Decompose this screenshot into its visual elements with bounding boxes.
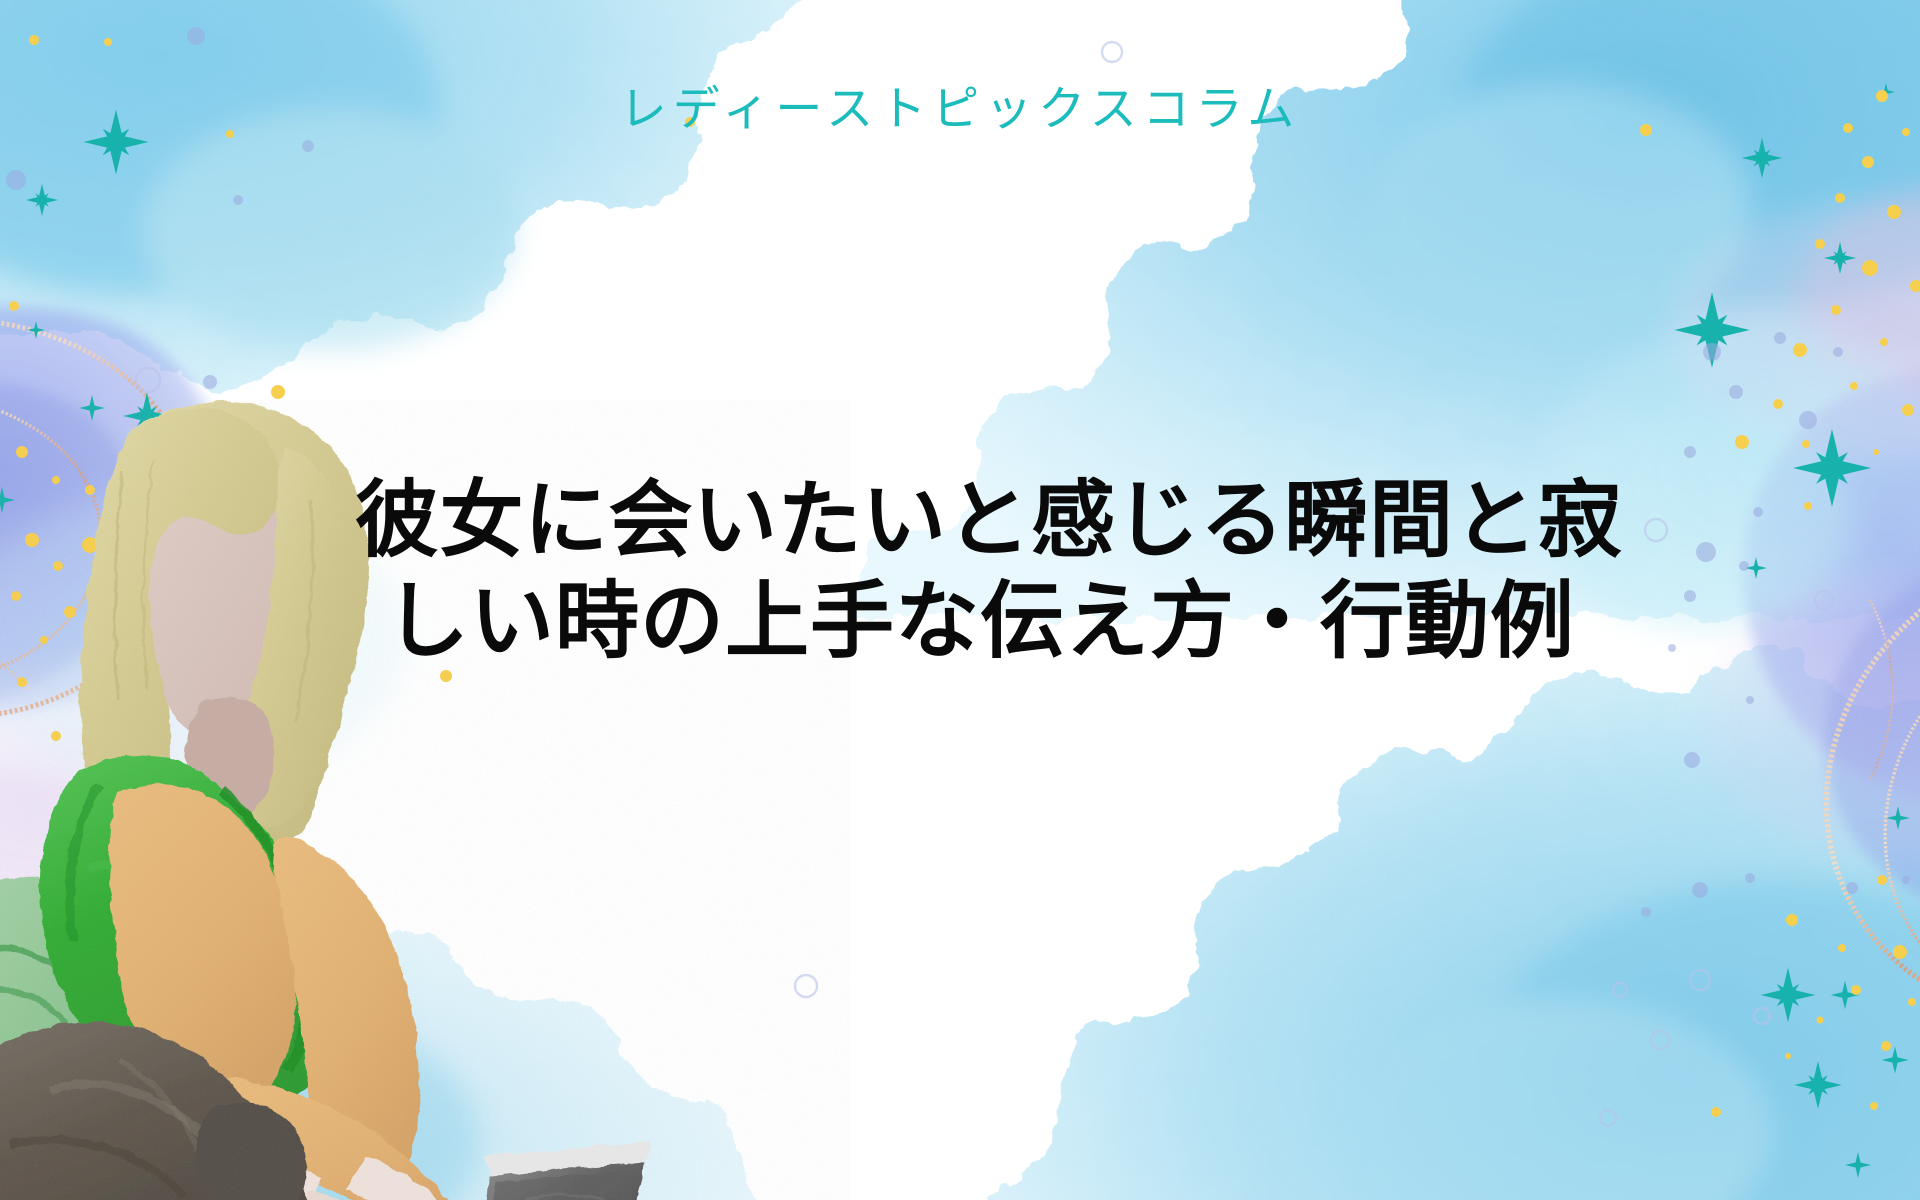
- ink-blob-right-periwinkle: [1744, 367, 1920, 920]
- hands: [299, 1190, 511, 1200]
- poster-canvas: レディーストピックスコラム 彼女に会いたいと感じる瞬間と寂 しい時の上手な伝え方…: [0, 0, 1920, 1200]
- hair-back: [125, 401, 369, 846]
- green-tank-top: [40, 754, 340, 1114]
- watercolor-bottom-right: [990, 646, 1920, 1200]
- ink-blob-left-lavender: [0, 670, 250, 990]
- face: [143, 454, 315, 743]
- watercolor-bottom-left-soft: [0, 990, 480, 1200]
- hair-front-right: [236, 448, 351, 826]
- ink-blob-right-pink: [1670, 185, 1920, 460]
- wrist-cuff: [210, 1144, 448, 1200]
- watercolor-bottom-left: [0, 892, 756, 1200]
- knee-shape: [197, 1102, 307, 1200]
- backpack: [0, 876, 159, 1200]
- hair-front-left: [80, 408, 282, 814]
- neck: [185, 697, 274, 819]
- arm-right: [274, 836, 420, 1200]
- ink-blob-left-cyan: [0, 490, 410, 790]
- watercolor-top-left-soft: [0, 0, 515, 350]
- glitter-vein-right: [1826, 540, 1920, 1026]
- watercolor-top-left: [0, 0, 806, 393]
- laptop: [398, 1142, 688, 1200]
- arm-upper: [110, 784, 297, 1115]
- page-title: 彼女に会いたいと感じる瞬間と寂 しい時の上手な伝え方・行動例: [355, 470, 1605, 672]
- ink-blob-left-periwinkle: [0, 307, 224, 714]
- page-title-line-1: 彼女に会いたいと感じる瞬間と寂: [355, 470, 1605, 571]
- ink-blob-right-lavender: [1700, 580, 1920, 860]
- page-title-line-2: しい時の上手な伝え方・行動例: [355, 571, 1605, 672]
- glitter-vein-left: [0, 317, 194, 717]
- watercolor-top-right-soft: [1370, 0, 1920, 335]
- eyebrow-heading: レディーストピックスコラム: [0, 70, 1920, 139]
- forearm: [180, 1078, 470, 1200]
- watercolor-bottom-right-soft: [1350, 880, 1920, 1200]
- pants: [0, 1022, 314, 1200]
